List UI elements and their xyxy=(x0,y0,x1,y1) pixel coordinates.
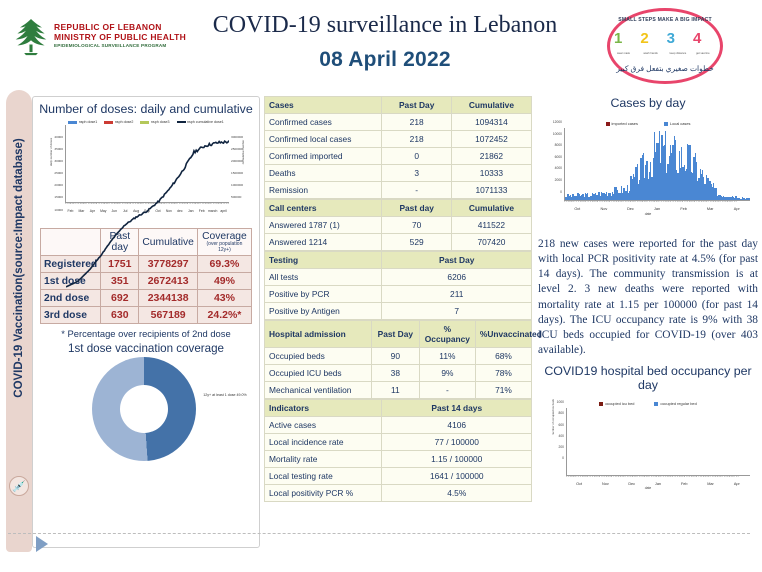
hospital-row-unvaccinated: 68% xyxy=(475,348,531,365)
indicators-row-label: Mortality rate xyxy=(265,451,382,468)
vaccination-panel: Number of doses: daily and cumulative ns… xyxy=(32,96,260,548)
vax-row-label: 2nd dose xyxy=(41,290,101,307)
testing-row-value: 6206 xyxy=(382,269,532,286)
table-row: Occupied beds 90 11% 68% xyxy=(265,348,532,365)
legend-dose2: nsph dose2 xyxy=(104,120,133,124)
table-row: 2nd dose 692 2344138 43% xyxy=(41,290,252,307)
hospital-row-past-day: 90 xyxy=(371,348,419,365)
indicators-row-value: 4106 xyxy=(382,417,532,434)
cases-header-label: Cases xyxy=(265,97,382,114)
testing-header-period: Past Day xyxy=(382,252,532,269)
testing-table: Testing Past Day All tests 6206 Positive… xyxy=(264,251,532,320)
vaccination-footnote: * Percentage over recipients of 2nd dose xyxy=(33,328,259,339)
table-row: Answered 1787 (1) 70 411522 xyxy=(265,217,532,234)
table-row: Mortality rate 1.15 / 100000 xyxy=(265,451,532,468)
cases-row-past-day: - xyxy=(382,182,451,199)
indicators-row-label: Local positivity PCR % xyxy=(265,485,382,502)
logo-line-3: EPIDEMIOLOGICAL SURVEILLANCE PROGRAM xyxy=(54,43,186,48)
call-centers-table: Call centers Past day Cumulative Answere… xyxy=(264,199,532,251)
testing-row-label: Positive by Antigen xyxy=(265,303,382,320)
hospital-row-label: Occupied beds xyxy=(265,348,372,365)
indicators-row-value: 1641 / 100000 xyxy=(382,468,532,485)
occupancy-bars xyxy=(567,408,750,475)
occupancy-plot-area xyxy=(566,408,750,476)
cases-chart-legend: imported cases Local cases xyxy=(540,113,756,126)
doses-chart-legend: nsph dose1 nsph dose2 nsph dose3 nsph cu… xyxy=(39,120,253,124)
cases-row-cumulative: 1072452 xyxy=(451,131,531,148)
vax-row-coverage: 43% xyxy=(197,290,251,307)
table-row: Deaths 3 10333 xyxy=(265,165,532,182)
badge-step-2: 2 wash hands xyxy=(640,30,663,56)
summary-narrative: 218 new cases were reported for the past… xyxy=(536,237,760,358)
call-row-cumulative: 411522 xyxy=(451,217,531,234)
cases-row-past-day: 0 xyxy=(382,148,451,165)
hospital-row-label: Occupied ICU beds xyxy=(265,365,372,382)
call-header-past-day: Past day xyxy=(382,200,451,217)
legend-imported-cases: imported cases xyxy=(606,121,638,126)
doses-chart-title: Number of doses: daily and cumulative xyxy=(33,97,259,118)
call-row-cumulative: 707420 xyxy=(451,234,531,251)
donut-chart-title: 1st dose vaccination coverage xyxy=(33,342,259,355)
table-row: Mechanical ventilation 11 - 71% xyxy=(265,382,532,399)
table-row: Confirmed imported 0 21862 xyxy=(265,148,532,165)
table-row: Positive by PCR 211 xyxy=(265,286,532,303)
indicators-table: Indicators Past 14 days Active cases 410… xyxy=(264,399,532,502)
cases-row-label: Remission xyxy=(265,182,382,199)
hospital-header-label: Hospital admission xyxy=(265,321,372,348)
donut-chart: 12y+ at least 1 dose 49.0% xyxy=(34,357,258,469)
testing-row-label: All tests xyxy=(265,269,382,286)
doses-y2-ticks: 3000000 2500000 2000000 1500000 1000000 … xyxy=(231,136,253,209)
table-row: Local positivity PCR % 4.5% xyxy=(265,485,532,502)
doses-y-ticks: 40000 35000 30000 25000 20000 15000 1000… xyxy=(39,136,63,221)
cases-row-past-day: 218 xyxy=(382,114,451,131)
indicators-row-value: 77 / 100000 xyxy=(382,434,532,451)
cases-header-past-day: Past Day xyxy=(382,97,451,114)
cedar-tree-icon xyxy=(14,16,48,56)
occupancy-x-axis-label: date xyxy=(540,486,756,490)
cases-row-label: Confirmed imported xyxy=(265,148,382,165)
hospital-table: Hospital admission Past Day % Occupancy … xyxy=(264,320,532,399)
call-header-cumulative: Cumulative xyxy=(451,200,531,217)
bar xyxy=(749,198,750,200)
table-row: Answered 1214 529 707420 xyxy=(265,234,532,251)
vaccination-side-tab[interactable]: COVID-19 Vaccination(source:Impact datab… xyxy=(6,90,32,552)
cases-row-label: Deaths xyxy=(265,165,382,182)
indicators-row-value: 1.15 / 100000 xyxy=(382,451,532,468)
hospital-row-occupancy: 9% xyxy=(419,365,475,382)
donut-ring xyxy=(92,357,196,461)
table-row: Remission - 1071133 xyxy=(265,182,532,199)
vax-row-cumulative: 567189 xyxy=(139,307,198,324)
play-arrow-icon[interactable] xyxy=(36,536,48,552)
testing-row-label: Positive by PCR xyxy=(265,286,382,303)
indicators-row-label: Local testing rate xyxy=(265,468,382,485)
occupancy-y-ticks: 1000 800 600 400 200 0 xyxy=(540,401,564,468)
table-row: Local testing rate 1641 / 100000 xyxy=(265,468,532,485)
syringe-icon: 💉 xyxy=(9,476,29,496)
cases-x-axis-label: date xyxy=(540,212,756,216)
occupancy-date-strip: 1 2 3 4 5 6 7 1 2 3 4 5 6 7 1 2 3 4 5 6 … xyxy=(566,476,750,481)
indicators-header-period: Past 14 days xyxy=(382,400,532,417)
vax-row-cumulative: 2344138 xyxy=(139,290,198,307)
legend-local-cases: Local cases xyxy=(664,121,691,126)
table-header-row: Cases Past Day Cumulative xyxy=(265,97,532,114)
call-row-past-day: 70 xyxy=(382,217,451,234)
indicators-header-label: Indicators xyxy=(265,400,382,417)
page-title: COVID-19 surveillance in Lebanon xyxy=(175,12,595,39)
cases-month-labels: OctNovDecJanFebMarApr xyxy=(564,207,750,211)
awareness-badge: SMALL STEPS MAKE A BIG IMPACT 1 wear mas… xyxy=(607,8,723,84)
hospital-row-unvaccinated: 78% xyxy=(475,365,531,382)
cases-row-label: Confirmed local cases xyxy=(265,131,382,148)
cases-row-cumulative: 21862 xyxy=(451,148,531,165)
legend-cumulative: nsph cumulative dose1 xyxy=(177,120,224,124)
hospital-row-past-day: 38 xyxy=(371,365,419,382)
badge-step-1: 1 wear mask xyxy=(614,30,637,56)
moph-logo: REPUBLIC OF LEBANON MINISTRY OF PUBLIC H… xyxy=(14,16,186,56)
table-header-row: Testing Past Day xyxy=(265,252,532,269)
hospital-header-occupancy: % Occupancy xyxy=(419,321,475,348)
vaccination-side-label: COVID-19 Vaccination(source:Impact datab… xyxy=(13,92,25,444)
vax-row-past-day: 692 xyxy=(101,290,139,307)
call-row-label: Answered 1214 xyxy=(265,234,382,251)
cases-row-label: Confirmed cases xyxy=(265,114,382,131)
doses-chart: nsph dose1 nsph dose2 nsph dose3 nsph cu… xyxy=(39,120,253,225)
testing-header-label: Testing xyxy=(265,252,382,269)
legend-dose1: nsph dose1 xyxy=(68,120,97,124)
table-row: 3rd dose 630 567189 24.2%* xyxy=(41,307,252,324)
table-row: Confirmed cases 218 1094314 xyxy=(265,114,532,131)
legend-regular-bed: occupied regular bed xyxy=(654,401,696,406)
statistics-tables: Cases Past Day Cumulative Confirmed case… xyxy=(264,96,532,502)
cases-header-cumulative: Cumulative xyxy=(451,97,531,114)
cases-row-cumulative: 1071133 xyxy=(451,182,531,199)
hospital-row-label: Mechanical ventilation xyxy=(265,382,372,399)
indicators-row-label: Active cases xyxy=(265,417,382,434)
cases-row-past-day: 3 xyxy=(382,165,451,182)
table-row: Active cases 4106 xyxy=(265,417,532,434)
badge-slogan: SMALL STEPS MAKE A BIG IMPACT xyxy=(607,17,723,23)
testing-row-value: 7 xyxy=(382,303,532,320)
occupancy-month-labels: OctNovDecJanFebMarApr xyxy=(566,482,750,486)
dashboard-page: REPUBLIC OF LEBANON MINISTRY OF PUBLIC H… xyxy=(0,0,762,572)
donut-label: 12y+ at least 1 dose 49.0% xyxy=(202,393,248,398)
table-header-row: Indicators Past 14 days xyxy=(265,400,532,417)
cases-table: Cases Past Day Cumulative Confirmed case… xyxy=(264,96,532,199)
logo-line-2: MINISTRY OF PUBLIC HEALTH xyxy=(54,33,186,43)
bed-occupancy-chart: occupied icu bed occupied regular bed nu… xyxy=(540,395,756,507)
report-date: 08 April 2022 xyxy=(175,48,595,72)
indicators-row-label: Local incidence rate xyxy=(265,434,382,451)
table-row: Local incidence rate 77 / 100000 xyxy=(265,434,532,451)
table-row: All tests 6206 xyxy=(265,269,532,286)
call-header-label: Call centers xyxy=(265,200,382,217)
cases-y-ticks: 12000 10000 8000 6000 4000 2000 0 xyxy=(540,121,562,202)
call-row-past-day: 529 xyxy=(382,234,451,251)
cases-row-cumulative: 1094314 xyxy=(451,114,531,131)
section-divider xyxy=(8,533,750,534)
call-row-label: Answered 1787 (1) xyxy=(265,217,382,234)
doses-cumulative-line xyxy=(66,125,229,288)
hospital-row-occupancy: 11% xyxy=(419,348,475,365)
badge-step-icons: 1 wear mask 2 wash hands 3 keep distance… xyxy=(614,30,716,56)
table-header-row: Hospital admission Past Day % Occupancy … xyxy=(265,321,532,348)
badge-arabic: خطوات صغيري بتفعل فرق كبير xyxy=(607,64,723,73)
testing-row-value: 211 xyxy=(382,286,532,303)
right-panel: Cases by day imported cases Local cases … xyxy=(536,96,760,507)
page-header: REPUBLIC OF LEBANON MINISTRY OF PUBLIC H… xyxy=(0,0,762,88)
donut-hole xyxy=(120,385,168,433)
vax-row-label: 3rd dose xyxy=(41,307,101,324)
vax-row-past-day: 630 xyxy=(101,307,139,324)
doses-plot-area xyxy=(65,125,229,203)
cases-plot-area xyxy=(564,128,750,201)
table-row: Positive by Antigen 7 xyxy=(265,303,532,320)
vax-row-coverage: 24.2%* xyxy=(197,307,251,324)
badge-step-3: 3 keep distance xyxy=(667,30,690,56)
hospital-header-unvaccinated: %Unvaccinated xyxy=(475,321,531,348)
indicators-row-value: 4.5% xyxy=(382,485,532,502)
hospital-row-past-day: 11 xyxy=(371,382,419,399)
cases-row-past-day: 218 xyxy=(382,131,451,148)
cases-bars xyxy=(565,128,750,200)
cases-by-day-title: Cases by day xyxy=(536,96,760,110)
badge-step-4: 4 get vaccine xyxy=(693,30,716,56)
legend-dose3: nsph dose3 xyxy=(140,120,169,124)
cases-by-day-chart: imported cases Local cases 12000 10000 8… xyxy=(540,113,756,231)
legend-icu-bed: occupied icu bed xyxy=(599,401,634,406)
cases-row-cumulative: 10333 xyxy=(451,165,531,182)
cases-date-strip: 1 2 3 4 5 6 7 1 2 3 4 5 6 7 1 2 3 4 5 6 … xyxy=(564,201,750,206)
table-row: Confirmed local cases 218 1072452 xyxy=(265,131,532,148)
table-row: Occupied ICU beds 38 9% 78% xyxy=(265,365,532,382)
hospital-header-past-day: Past Day xyxy=(371,321,419,348)
hospital-row-unvaccinated: 71% xyxy=(475,382,531,399)
occupancy-chart-legend: occupied icu bed occupied regular bed xyxy=(540,395,756,406)
hospital-row-occupancy: - xyxy=(419,382,475,399)
occupancy-chart-title: COVID19 hospital bed occupancy per day xyxy=(536,364,760,392)
table-header-row: Call centers Past day Cumulative xyxy=(265,200,532,217)
